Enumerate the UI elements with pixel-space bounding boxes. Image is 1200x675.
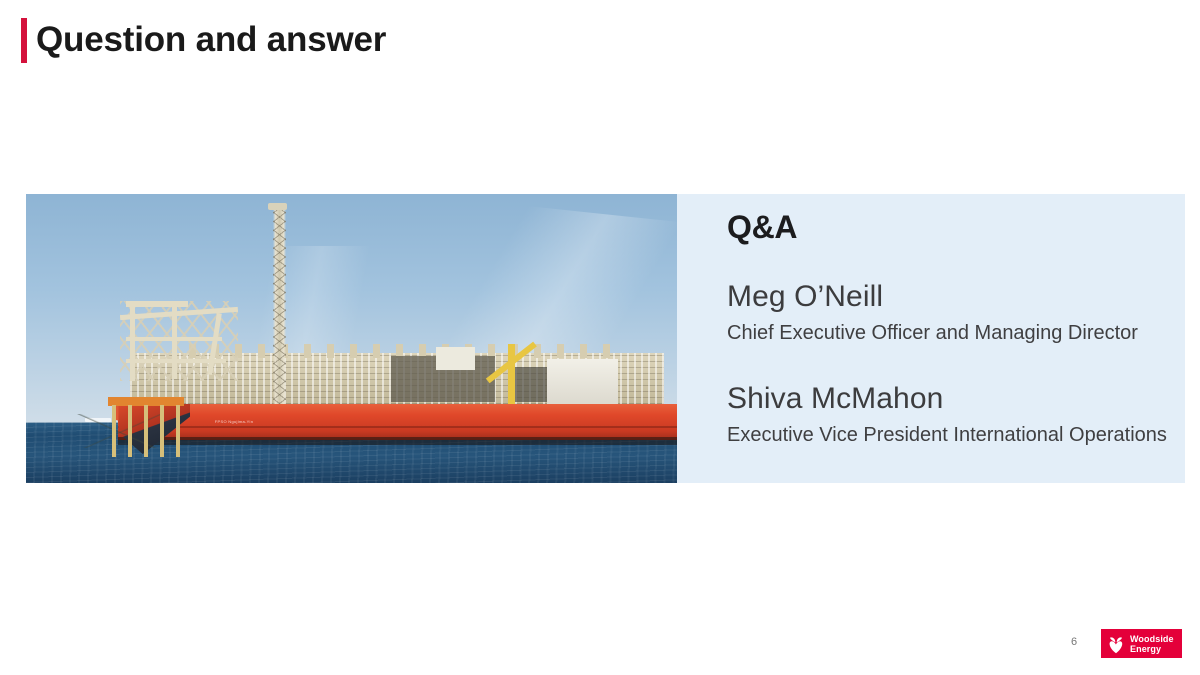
speaker-name: Shiva McMahon	[727, 381, 1167, 417]
fpso-photo: FPSO Ngujima-Yin	[26, 194, 677, 483]
vessel-hull	[118, 404, 677, 440]
slide-canvas: Question and answer	[0, 0, 1200, 675]
logo-line-1: Woodside	[1130, 634, 1174, 644]
flare-tower	[273, 206, 286, 408]
woodside-energy-logo: Woodside Energy	[1101, 629, 1182, 658]
accommodation-block	[547, 359, 619, 405]
page-title: Question and answer	[36, 18, 386, 63]
title-accent-bar	[21, 18, 27, 63]
gantry-beam	[126, 359, 226, 363]
hull-waterline-shadow	[118, 437, 677, 446]
gantry-beam	[130, 301, 135, 381]
topside-white-structure	[436, 347, 475, 370]
qa-heading: Q&A	[727, 209, 797, 246]
speaker-name: Meg O’Neill	[727, 279, 1138, 315]
speaker-role: Chief Executive Officer and Managing Dir…	[727, 320, 1138, 347]
bow-gantry	[120, 301, 238, 381]
speaker-entry-1: Meg O’Neill Chief Executive Officer and …	[727, 279, 1138, 347]
slide-title-row: Question and answer	[21, 18, 386, 63]
turret-leg	[160, 405, 164, 457]
turret-leg	[128, 405, 132, 457]
gantry-beam	[126, 301, 188, 307]
flare-tower-tip	[268, 203, 287, 210]
logo-wordmark: Woodside Energy	[1130, 634, 1174, 654]
logo-line-2: Energy	[1130, 644, 1161, 654]
turret-leg	[176, 405, 180, 457]
gantry-beam	[126, 337, 222, 341]
content-band: FPSO Ngujima-Yin Q&A Meg O’Neill Chief E…	[26, 194, 1185, 483]
speaker-role: Executive Vice President International O…	[727, 422, 1167, 449]
riser-turret-legs	[98, 405, 198, 465]
page-number: 6	[1071, 636, 1077, 648]
hull-name-text: FPSO Ngujima-Yin	[215, 419, 253, 424]
speaker-entry-2: Shiva McMahon Executive Vice President I…	[727, 381, 1167, 449]
turret-leg	[144, 405, 148, 457]
woodside-flower-icon	[1105, 634, 1127, 654]
turret-leg	[112, 405, 116, 457]
qa-info-panel: Q&A Meg O’Neill Chief Executive Officer …	[677, 194, 1185, 483]
